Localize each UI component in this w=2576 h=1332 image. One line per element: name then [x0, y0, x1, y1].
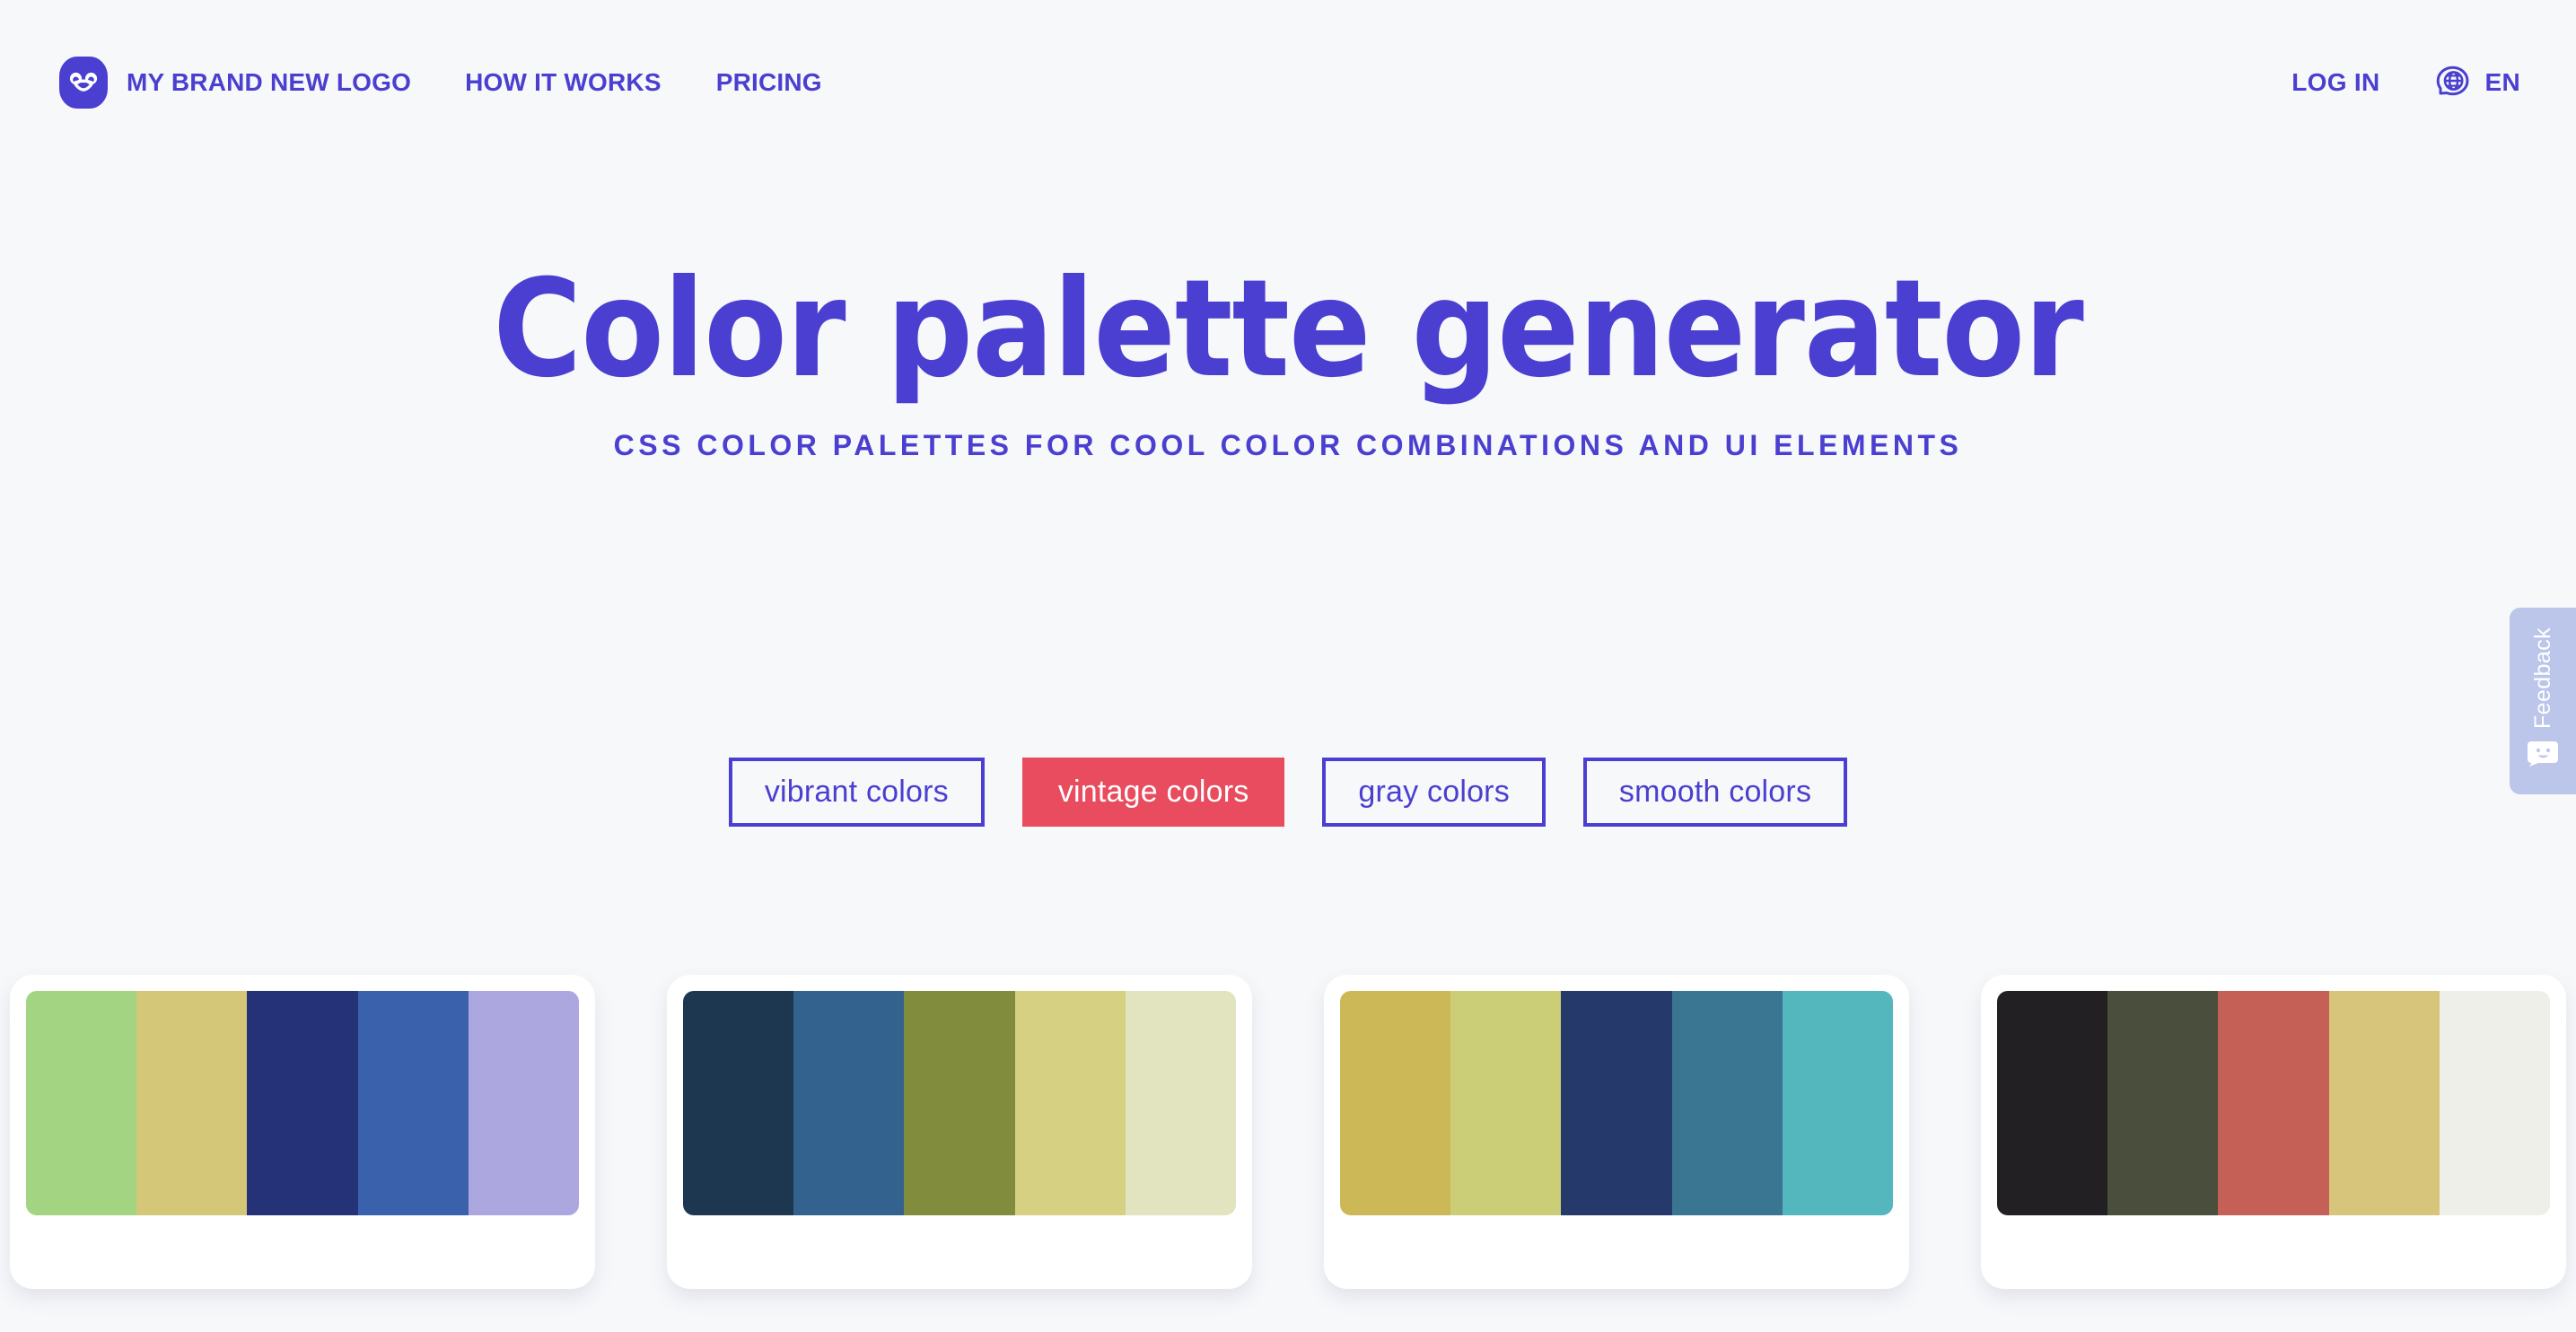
- color-swatch[interactable]: [1126, 991, 1236, 1215]
- hero-section: Color palette generator CSS color palett…: [0, 165, 2576, 462]
- color-swatch[interactable]: [2218, 991, 2328, 1215]
- color-swatch[interactable]: [1340, 991, 1450, 1215]
- color-swatch[interactable]: [2107, 991, 2218, 1215]
- color-swatch[interactable]: [1015, 991, 1126, 1215]
- color-swatch[interactable]: [1561, 991, 1671, 1215]
- palette-card[interactable]: [1981, 975, 2566, 1289]
- palette-card[interactable]: [667, 975, 1252, 1289]
- page-title: Color palette generator: [0, 262, 2576, 397]
- color-swatch[interactable]: [1672, 991, 1783, 1215]
- color-swatch[interactable]: [904, 991, 1014, 1215]
- koala-face-logo-icon: [59, 57, 108, 109]
- color-swatch[interactable]: [469, 991, 579, 1215]
- palette-card[interactable]: [1324, 975, 1909, 1289]
- brand-name: MY BRAND NEW LOGO: [127, 68, 411, 97]
- login-button[interactable]: LOG IN: [2291, 68, 2379, 97]
- nav-link-how-it-works[interactable]: HOW IT WORKS: [465, 68, 662, 97]
- color-swatch[interactable]: [1450, 991, 1561, 1215]
- color-swatch[interactable]: [2329, 991, 2440, 1215]
- page-subtitle: CSS color palettes for cool color combin…: [0, 429, 2576, 462]
- palette-swatch-strip: [1997, 991, 2550, 1215]
- palette-swatch-strip: [1340, 991, 1893, 1215]
- palette-filter-group: vibrant colors vintage colors gray color…: [0, 758, 2576, 827]
- smiley-speech-bubble-icon: [2528, 741, 2558, 767]
- globe-chat-icon: [2436, 66, 2470, 100]
- feedback-label: Feedback: [2530, 627, 2556, 729]
- color-swatch[interactable]: [1783, 991, 1893, 1215]
- color-swatch[interactable]: [136, 991, 247, 1215]
- filter-smooth-colors[interactable]: smooth colors: [1583, 758, 1847, 827]
- color-swatch[interactable]: [358, 991, 469, 1215]
- color-swatch[interactable]: [247, 991, 357, 1215]
- filter-vintage-colors[interactable]: vintage colors: [1022, 758, 1285, 827]
- color-swatch[interactable]: [1997, 991, 2107, 1215]
- filter-gray-colors[interactable]: gray colors: [1322, 758, 1545, 827]
- filter-vibrant-colors[interactable]: vibrant colors: [729, 758, 985, 827]
- site-header: MY BRAND NEW LOGO HOW IT WORKS PRICING L…: [0, 0, 2576, 165]
- palette-card-grid: [0, 975, 2576, 1289]
- color-swatch[interactable]: [793, 991, 904, 1215]
- color-swatch[interactable]: [2440, 991, 2550, 1215]
- palette-card[interactable]: [10, 975, 595, 1289]
- color-swatch[interactable]: [26, 991, 136, 1215]
- main-nav: HOW IT WORKS PRICING: [465, 68, 822, 97]
- nav-link-pricing[interactable]: PRICING: [716, 68, 822, 97]
- palette-swatch-strip: [26, 991, 579, 1215]
- language-switcher[interactable]: EN: [2436, 66, 2521, 100]
- language-label: EN: [2485, 68, 2521, 97]
- color-swatch[interactable]: [683, 991, 793, 1215]
- feedback-tab[interactable]: Feedback: [2510, 608, 2576, 794]
- header-actions: LOG IN EN: [2291, 66, 2520, 100]
- brand-logo-link[interactable]: MY BRAND NEW LOGO: [59, 57, 411, 109]
- palette-swatch-strip: [683, 991, 1236, 1215]
